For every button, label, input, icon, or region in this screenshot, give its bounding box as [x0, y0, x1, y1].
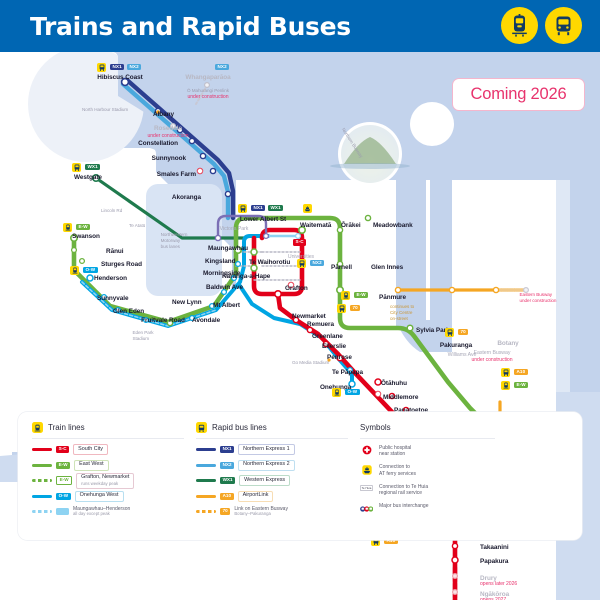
- line-name: Link on Eastern BuswayBotany–Pakuranga: [234, 507, 288, 517]
- line-color-swatch: [196, 495, 216, 498]
- line-color-swatch: [196, 448, 216, 451]
- page-title: Trains and Rapid Buses: [30, 12, 351, 41]
- line-color-swatch: [32, 448, 52, 451]
- legend-train-lines: Train lines S-CSouth CityE-WEast WestE-W…: [32, 422, 184, 522]
- station-label[interactable]: Ellerslie: [322, 343, 346, 350]
- station-label[interactable]: Albany: [153, 111, 174, 118]
- legend-row[interactable]: WX1Western Express: [196, 476, 348, 486]
- station-label[interactable]: Henderson: [94, 275, 127, 282]
- line-badge-nx1-city[interactable]: NX1: [251, 205, 265, 212]
- hospital-cross-icon: [360, 445, 373, 456]
- station-label[interactable]: Hibiscus Coast: [97, 74, 142, 81]
- station-label[interactable]: Glen Eden: [113, 308, 144, 315]
- station-label[interactable]: Fruitvale Road: [141, 317, 185, 324]
- line-badge[interactable]: E-W: [56, 476, 72, 485]
- line-badge-a10-manukau[interactable]: A10: [514, 369, 528, 376]
- station-label[interactable]: Sunnynook: [152, 155, 186, 162]
- legend-symbols: Symbols Public hospital near stationConn…: [360, 422, 495, 520]
- station-label[interactable]: Karanga-a-Hape: [222, 273, 270, 280]
- station-label[interactable]: Westgate: [74, 174, 102, 181]
- station-label[interactable]: Swanson: [72, 233, 100, 240]
- station-label[interactable]: Sunnyvale: [97, 295, 129, 302]
- station-label[interactable]: Sturges Road: [101, 261, 142, 268]
- station-label[interactable]: Remuera: [307, 321, 334, 328]
- station-label[interactable]: Botany: [497, 340, 518, 347]
- line-badge-wx1[interactable]: WX1: [85, 164, 100, 171]
- station-label[interactable]: Middlemore: [383, 394, 418, 401]
- station-label[interactable]: Maungawhau: [208, 245, 248, 252]
- line-badge-nx1[interactable]: NX1: [110, 64, 124, 71]
- line-badge-nx2-whangaparaoa[interactable]: NX2: [215, 64, 229, 71]
- line-color-swatch: [32, 495, 52, 498]
- line-name: East West: [74, 460, 108, 471]
- station-label[interactable]: Smales Farm: [157, 171, 196, 178]
- app-header: Trains and Rapid Buses: [0, 0, 600, 52]
- line-badge-wx1-city[interactable]: WX1: [268, 205, 283, 212]
- line-badge[interactable]: S-C: [56, 446, 69, 453]
- geo-label: Ō Mahurangi Penlink: [187, 88, 229, 94]
- station-label[interactable]: New Lynn: [172, 299, 202, 306]
- station-label[interactable]: under construction: [471, 358, 512, 364]
- station-label[interactable]: Rānui: [106, 248, 124, 255]
- line-badge-sc-crl[interactable]: S-C: [293, 239, 306, 246]
- line-name-text: East West: [79, 461, 103, 467]
- line-name-sub: Botany–Pakuranga: [234, 512, 288, 516]
- geo-label: Eastern Busway under construction: [520, 292, 557, 304]
- line-badge-nx2[interactable]: NX2: [127, 64, 141, 71]
- legend-symbols-header: Symbols: [360, 422, 495, 433]
- station-label[interactable]: Ōrākei: [341, 222, 361, 229]
- ferry-icon: [303, 204, 312, 213]
- line-color-swatch: [32, 510, 52, 513]
- line-badge[interactable]: NX1: [220, 446, 234, 453]
- line-badge-ow-onehunga[interactable]: O-W: [345, 389, 360, 396]
- train-icon-onehunga: [332, 388, 341, 397]
- divider: [32, 438, 184, 439]
- train-icon: [70, 266, 79, 275]
- line-name: Western Express: [239, 475, 290, 486]
- line-name-text: Northern Express 1: [243, 446, 289, 452]
- station-label[interactable]: Te Pāpapa: [332, 369, 363, 376]
- header-icon-group: [501, 7, 582, 44]
- train-icon-manukau: [501, 381, 510, 390]
- divider: [360, 438, 495, 439]
- geo-label: North Harbour Stadium: [82, 107, 128, 113]
- bus-interchange-icon: [97, 63, 106, 72]
- ferry-icon: [360, 464, 373, 475]
- line-badge-70-pakuranga[interactable]: 70: [458, 329, 468, 336]
- bus-interchange-icon-universities: [297, 259, 306, 268]
- line-name-text: AirportLink: [243, 492, 269, 498]
- legend-row[interactable]: 70Link on Eastern BuswayBotany–Pakuranga: [196, 507, 348, 517]
- line-badge[interactable]: E-W: [56, 462, 70, 469]
- legend-bus-header: Rapid bus lines: [196, 422, 348, 433]
- station-label[interactable]: Baldwin Ave: [206, 284, 243, 291]
- station-label[interactable]: Greenlane: [312, 333, 343, 340]
- line-badge[interactable]: O-W: [56, 493, 71, 500]
- legend-row[interactable]: NX2Northern Express 2: [196, 460, 348, 470]
- station-label[interactable]: Glen Innes: [371, 264, 403, 271]
- bus-interchange-icon-pakuranga: [445, 328, 454, 337]
- line-color-swatch: [196, 510, 216, 513]
- station-label[interactable]: Waitematā: [300, 222, 331, 229]
- station-label[interactable]: Papakura: [480, 558, 508, 565]
- legend-symbols-title: Symbols: [360, 423, 391, 432]
- station-label[interactable]: Te Waihorotiu: [249, 259, 290, 266]
- station-label[interactable]: Ōtāhuhu: [381, 380, 407, 387]
- geo-label: Go Media Stadium: [292, 360, 329, 366]
- line-badge-blank: [56, 508, 69, 515]
- station-label[interactable]: Avondale: [192, 317, 220, 324]
- train-icon: [501, 7, 538, 44]
- line-badge[interactable]: WX1: [220, 477, 235, 484]
- line-name-sub: runs weekday peak: [81, 482, 129, 486]
- te-huia-tag-icon: Te Huia: [360, 484, 373, 493]
- station-label[interactable]: Constellation: [138, 140, 178, 147]
- geo-label: Te Atatū: [129, 223, 145, 229]
- bus-interchange-icon: [360, 503, 373, 514]
- station-label[interactable]: Newmarket: [292, 313, 326, 320]
- line-name: AirportLink: [238, 491, 274, 502]
- legend-row[interactable]: Maungawhau–Hendersonall day except peak: [32, 507, 184, 517]
- geo-label: Lincoln Rd: [101, 208, 122, 214]
- station-label[interactable]: under construction: [147, 134, 188, 140]
- bus-interchange-icon: [72, 163, 81, 172]
- line-badge-ew-manukau[interactable]: E-W: [514, 382, 528, 389]
- legend-bus-title: Rapid bus lines: [212, 423, 267, 432]
- station-label[interactable]: Whangaparāoa: [185, 74, 230, 81]
- line-badge-ow-henderson[interactable]: O-W: [83, 267, 98, 274]
- station-label[interactable]: Pārnell: [331, 264, 352, 271]
- legend-row[interactable]: A10AirportLink: [196, 491, 348, 501]
- line-badge[interactable]: NX2: [220, 462, 234, 469]
- line-badge-nx2-universities[interactable]: NX2: [310, 260, 324, 267]
- geo-label: continues to City Centre on-street: [390, 304, 414, 322]
- geo-label: Eden Park Stadium: [132, 330, 153, 342]
- station-label[interactable]: Meadowbank: [373, 222, 413, 229]
- line-name: Northern Express 1: [238, 444, 294, 455]
- line-color-swatch: [196, 464, 216, 467]
- legend-symbol-row: Major bus interchange: [360, 503, 495, 514]
- station-label[interactable]: Penrose: [327, 354, 352, 361]
- line-name-text: Northern Express 2: [243, 461, 289, 467]
- legend-train-title: Train lines: [48, 423, 85, 432]
- line-name-sub: all day except peak: [73, 512, 130, 516]
- map-legend: Train lines S-CSouth CityE-WEast WestE-W…: [18, 412, 582, 540]
- station-label[interactable]: under construction: [187, 95, 228, 101]
- legend-bus-lines: Rapid bus lines NX1Northern Express 1NX2…: [196, 422, 348, 522]
- svg-text:Te Huia: Te Huia: [362, 486, 372, 490]
- line-badge[interactable]: 70: [220, 508, 230, 515]
- station-label[interactable]: Grafton: [285, 285, 308, 292]
- legend-row[interactable]: E-WEast West: [32, 460, 184, 470]
- line-name: Northern Express 2: [238, 460, 294, 471]
- legend-symbol-text: Public hospital near station: [379, 445, 411, 459]
- line-name-text: Grafton, Newmarket: [81, 474, 129, 480]
- train-icon: [63, 223, 72, 232]
- legend-row[interactable]: O-WOnehunga West: [32, 491, 184, 501]
- divider: [196, 438, 348, 439]
- geo-label: Northwestern Motorway bus lanes: [161, 232, 188, 250]
- station-label[interactable]: Kingsland: [205, 258, 235, 265]
- legend-row[interactable]: S-CSouth City: [32, 445, 184, 455]
- station-label[interactable]: Victoria Park: [220, 227, 249, 233]
- coming-2026-banner: Coming 2026: [452, 78, 585, 111]
- station-label[interactable]: opens later 2026: [480, 582, 517, 588]
- bus-icon: [545, 7, 582, 44]
- bus-interchange-icon-manukau: [501, 368, 510, 377]
- line-color-swatch: [196, 479, 216, 482]
- legend-symbol-row: Te HuiaConnection to Te Huia regional ra…: [360, 484, 495, 498]
- station-label[interactable]: Pakuranga: [440, 342, 472, 349]
- line-badge[interactable]: A10: [220, 493, 234, 500]
- legend-symbol-row: Connection to AT ferry services: [360, 464, 495, 478]
- bus-interchange-icon-panmure: [337, 304, 346, 313]
- bus-interchange-icon: [238, 204, 247, 213]
- line-badge-ew-panmure[interactable]: E-W: [354, 292, 368, 299]
- station-label[interactable]: Lower Albert St: [240, 216, 286, 223]
- legend-train-header: Train lines: [32, 422, 184, 433]
- line-name-text: Onehunga West: [80, 492, 119, 498]
- station-label[interactable]: Takaanini: [480, 544, 509, 551]
- line-badge-ew-swanson[interactable]: E-W: [76, 224, 90, 231]
- legend-row[interactable]: NX1Northern Express 1: [196, 445, 348, 455]
- line-name: Onehunga West: [75, 491, 124, 502]
- line-name: Maungawhau–Hendersonall day except peak: [73, 507, 130, 517]
- legend-symbol-text: Connection to AT ferry services: [379, 464, 416, 478]
- legend-symbol-row: Public hospital near station: [360, 445, 495, 459]
- station-label[interactable]: Akoranga: [172, 194, 201, 201]
- line-color-swatch: [32, 464, 52, 467]
- bus-icon: [196, 422, 207, 433]
- legend-row[interactable]: E-WGrafton, Newmarketruns weekday peak: [32, 476, 184, 486]
- legend-symbol-text: Major bus interchange: [379, 503, 428, 510]
- line-badge-70-panmure[interactable]: 70: [350, 305, 360, 312]
- train-icon-panmure: [341, 291, 350, 300]
- line-name-text: South City: [78, 446, 103, 452]
- line-color-swatch: [32, 479, 52, 482]
- train-icon: [32, 422, 43, 433]
- station-label[interactable]: Mt Albert: [213, 302, 240, 309]
- line-name: Grafton, Newmarketruns weekday peak: [76, 473, 134, 489]
- station-label[interactable]: Rosedale: [154, 125, 182, 132]
- line-name: South City: [73, 444, 108, 455]
- line-name-text: Western Express: [244, 477, 285, 483]
- station-label[interactable]: Pānmure: [379, 294, 406, 301]
- legend-symbol-text: Connection to Te Huia regional rail serv…: [379, 484, 428, 498]
